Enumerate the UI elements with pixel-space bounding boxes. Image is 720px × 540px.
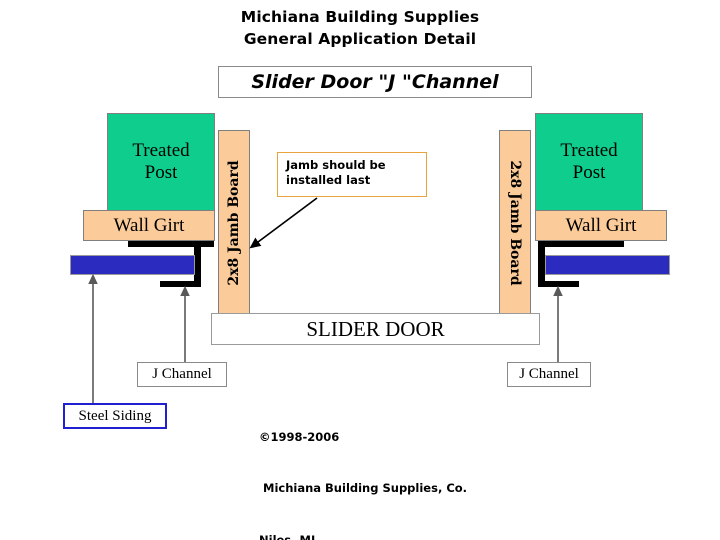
steel-siding-right <box>545 255 670 275</box>
callout-jamb-note: Jamb should be installed last <box>277 152 427 197</box>
jamb-board-right-label: 2x8 Jamb Board <box>507 160 523 285</box>
treated-post-left-label-line1: Treated <box>132 140 189 162</box>
jamb-board-left: 2x8 Jamb Board <box>218 130 250 315</box>
callout-line-1: Jamb should be <box>286 158 426 173</box>
jamb-board-right: 2x8 Jamb Board <box>499 130 531 315</box>
footer-copyright: ©1998-2006 <box>259 429 491 446</box>
wall-girt-right-label: Wall Girt <box>566 215 637 237</box>
label-steel-siding: Steel Siding <box>63 403 167 429</box>
treated-post-left: Treated Post <box>107 113 215 211</box>
slider-door-label: SLIDER DOOR <box>306 317 444 342</box>
label-j-channel-left-text: J Channel <box>152 366 212 383</box>
subtitle-text: Slider Door "J "Channel <box>219 67 531 97</box>
label-steel-siding-text: Steel Siding <box>79 408 152 425</box>
slider-door-block: SLIDER DOOR <box>211 313 540 345</box>
j-channel-left-top-bar <box>128 241 214 247</box>
footer-block: ©1998-2006 Michiana Building Supplies, C… <box>259 394 491 540</box>
wall-girt-left: Wall Girt <box>83 210 215 241</box>
leader-callout-jamb <box>254 198 317 245</box>
j-channel-right-bottom-bar <box>538 281 579 287</box>
label-j-channel-right-text: J Channel <box>519 366 579 383</box>
steel-siding-left <box>70 255 195 275</box>
callout-line-2: installed last <box>286 173 426 188</box>
treated-post-left-label-line2: Post <box>145 162 178 184</box>
label-j-channel-right: J Channel <box>507 362 591 387</box>
j-channel-left-bottom-bar <box>160 281 201 287</box>
page-title-line-1: Michiana Building Supplies <box>0 8 720 26</box>
diagram-canvas: Michiana Building Supplies General Appli… <box>0 0 720 540</box>
treated-post-right-label-line1: Treated <box>560 140 617 162</box>
wall-girt-left-label: Wall Girt <box>114 215 185 237</box>
footer-city: Niles, MI <box>259 532 491 540</box>
treated-post-right-label-line2: Post <box>573 162 606 184</box>
wall-girt-right: Wall Girt <box>535 210 667 241</box>
jamb-board-left-label: 2x8 Jamb Board <box>226 160 242 285</box>
j-channel-right-top-bar <box>538 241 624 247</box>
treated-post-right: Treated Post <box>535 113 643 211</box>
subtitle-box: Slider Door "J "Channel <box>218 66 532 98</box>
label-j-channel-left: J Channel <box>137 362 227 387</box>
footer-company: Michiana Building Supplies, Co. <box>259 480 491 497</box>
page-title-line-2: General Application Detail <box>0 30 720 48</box>
